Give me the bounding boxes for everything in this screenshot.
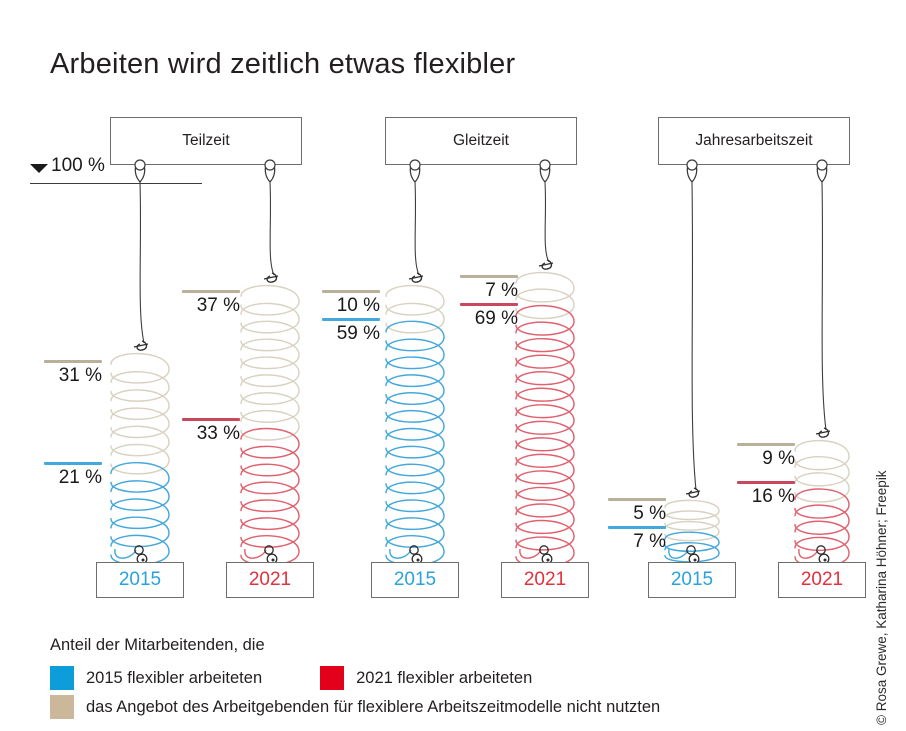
- pct-label-gleitzeit-2015-colored: 59 %: [318, 318, 380, 344]
- pct-text: 16 %: [731, 484, 795, 507]
- pct-text: 5 %: [608, 501, 666, 524]
- pct-text: 7 %: [456, 278, 518, 301]
- year-box-teilzeit-2021[interactable]: 2021: [226, 562, 314, 598]
- year-label: 2021: [524, 569, 566, 591]
- pct-label-gleitzeit-2015-beige: 10 %: [318, 290, 380, 316]
- pct-label-gleitzeit-2021-beige: 7 %: [456, 275, 518, 301]
- pct-text: 33 %: [178, 421, 240, 444]
- pct-label-gleitzeit-2021-colored: 69 %: [450, 303, 518, 329]
- pct-text: 31 %: [40, 363, 102, 386]
- legend-heading: Anteil der Mitarbeitenden, die: [50, 636, 660, 655]
- color-swatch-blue: [50, 666, 74, 690]
- year-label: 2021: [249, 569, 291, 591]
- credit-text: © Rosa Grewe, Katharina Höhner; Freepik: [874, 385, 889, 725]
- pct-label-jahres-2021-colored: 16 %: [731, 481, 795, 507]
- pct-label-teilzeit-2015-colored: 21 %: [40, 462, 102, 488]
- year-label: 2015: [671, 569, 713, 591]
- pct-label-teilzeit-2015-beige: 31 %: [40, 360, 102, 386]
- year-box-gleitzeit-2021[interactable]: 2021: [501, 562, 589, 598]
- pct-text: 7 %: [608, 529, 666, 552]
- pct-text: 37 %: [178, 293, 240, 316]
- legend: Anteil der Mitarbeitenden, die 2015 flex…: [50, 636, 660, 719]
- credit-container: © Rosa Grewe, Katharina Höhner; Freepik: [874, 45, 894, 385]
- pct-text: 10 %: [318, 293, 380, 316]
- year-box-jahres-2021[interactable]: 2021: [778, 562, 866, 598]
- pct-text: 69 %: [450, 306, 518, 329]
- pct-label-teilzeit-2021-colored: 33 %: [178, 418, 240, 444]
- year-box-teilzeit-2015[interactable]: 2015: [96, 562, 184, 598]
- infographic-canvas: Arbeiten wird zeitlich etwas flexibler 1…: [0, 0, 906, 731]
- legend-item-2015: 2015 flexibler arbeiteten: [50, 666, 262, 690]
- legend-row-group: 2015 flexibler arbeiteten 2021 flexibler…: [50, 661, 660, 690]
- pct-text: 21 %: [40, 465, 102, 488]
- legend-item-label: 2021 flexibler arbeiteten: [356, 669, 532, 688]
- pct-label-jahres-2021-beige: 9 %: [737, 443, 795, 469]
- color-swatch-red: [320, 666, 344, 690]
- year-label: 2015: [394, 569, 436, 591]
- year-box-jahres-2015[interactable]: 2015: [648, 562, 736, 598]
- year-box-gleitzeit-2015[interactable]: 2015: [371, 562, 459, 598]
- color-swatch-beige: [50, 695, 74, 719]
- pct-label-jahres-2015-colored: 7 %: [608, 526, 666, 552]
- pct-text: 9 %: [737, 446, 795, 469]
- legend-item-label: 2015 flexibler arbeiteten: [86, 669, 262, 688]
- legend-item-2021: 2021 flexibler arbeiteten: [320, 666, 532, 690]
- legend-item-label: das Angebot des Arbeitgebenden für flexi…: [86, 698, 660, 717]
- coil-chart-artwork: [0, 0, 906, 731]
- pct-label-jahres-2015-beige: 5 %: [608, 498, 666, 524]
- pct-text: 59 %: [318, 321, 380, 344]
- year-label: 2021: [801, 569, 843, 591]
- year-label: 2015: [119, 569, 161, 591]
- pct-label-teilzeit-2021-beige: 37 %: [178, 290, 240, 316]
- legend-item-unused: das Angebot des Arbeitgebenden für flexi…: [50, 695, 660, 719]
